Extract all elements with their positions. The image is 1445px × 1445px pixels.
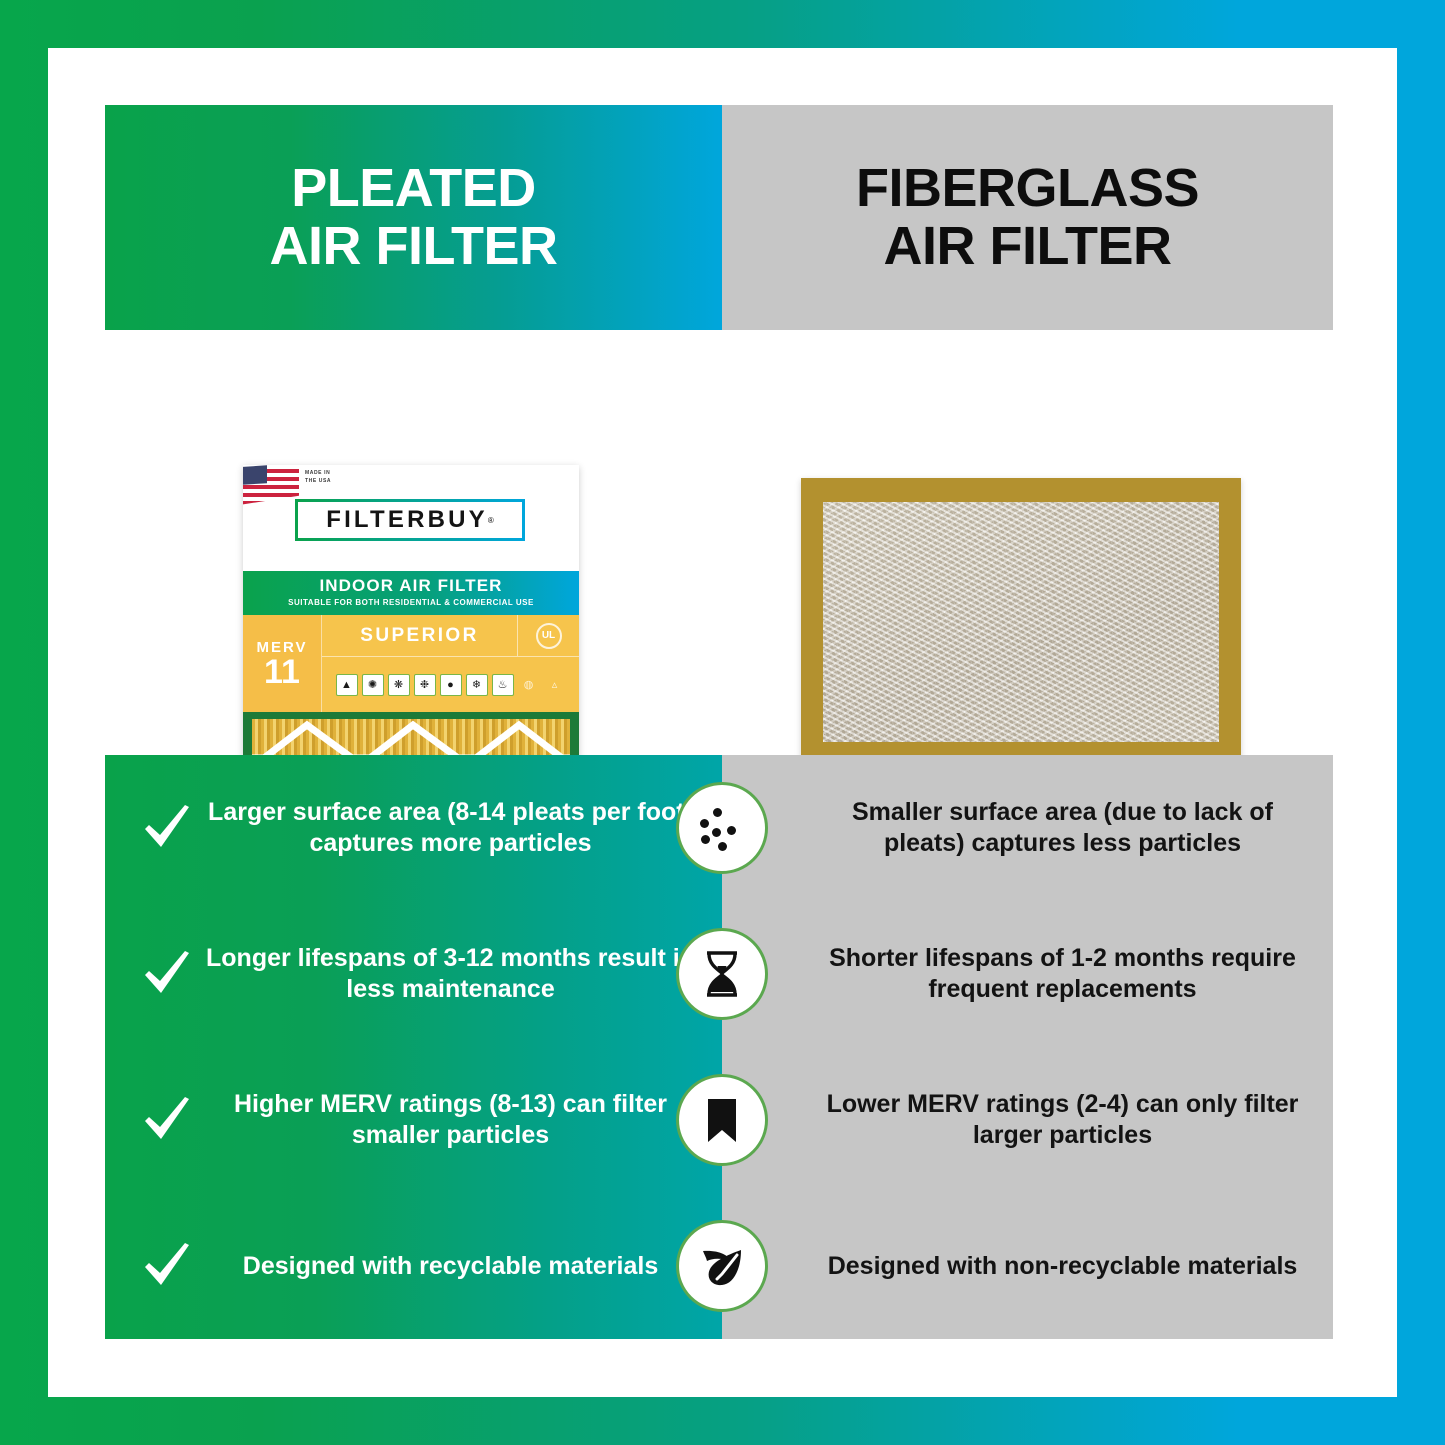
grade-row: SUPERIOR UL	[322, 615, 579, 657]
row-right-cell: Smaller surface area (due to lack of ple…	[722, 755, 1333, 901]
header-fiberglass: FIBERGLASS AIR FILTER	[722, 105, 1333, 330]
row-right-text: Smaller surface area (due to lack of ple…	[822, 797, 1303, 859]
ul-seal-text: UL	[536, 623, 562, 649]
comparison-row: Larger surface area (8-14 pleats per foo…	[105, 755, 1333, 901]
fiberglass-media	[823, 502, 1219, 742]
row-left-cell: Larger surface area (8-14 pleats per foo…	[105, 755, 722, 901]
made-in-line2: THE USA	[305, 478, 331, 486]
pollen-icon: ❋	[388, 674, 410, 696]
filterbuy-logo: FILTERBUY®	[295, 499, 525, 541]
insect-icon: ✺	[362, 674, 384, 696]
particles-icon	[676, 782, 768, 874]
fiberglass-filter-image	[801, 478, 1241, 766]
infographic-inner: PLEATED AIR FILTER FIBERGLASS AIR FILTER…	[105, 105, 1333, 1339]
infographic-card: PLEATED AIR FILTER FIBERGLASS AIR FILTER…	[48, 48, 1397, 1397]
header-pleated: PLEATED AIR FILTER	[105, 105, 722, 330]
row-right-cell: Designed with non-recyclable materials	[722, 1193, 1333, 1339]
package-top: MADE IN THE USA FILTERBUY®	[243, 465, 579, 571]
comparison-row: Longer lifespans of 3-12 months result i…	[105, 901, 1333, 1047]
comparison-row: Designed with recyclable materials Desig…	[105, 1193, 1333, 1339]
row-right-cell: Lower MERV ratings (2-4) can only filter…	[722, 1047, 1333, 1193]
check-icon	[133, 950, 201, 998]
row-left-text: Higher MERV ratings (8-13) can filter sm…	[201, 1089, 700, 1151]
row-left-text: Larger surface area (8-14 pleats per foo…	[201, 797, 700, 859]
merv-rating-block: MERV 11	[243, 615, 322, 712]
certification-seal: UL	[517, 615, 579, 656]
package-spec-area: MERV 11 SUPERIOR UL ▲ ✺ ❋	[243, 615, 579, 712]
row-left-text: Designed with recyclable materials	[201, 1251, 700, 1282]
grade-label: SUPERIOR	[322, 615, 517, 656]
particles-dots	[696, 802, 748, 854]
package-colored-band: INDOOR AIR FILTER SUITABLE FOR BOTH RESI…	[243, 571, 579, 615]
comparison-rows: Larger surface area (8-14 pleats per foo…	[105, 755, 1333, 1339]
check-icon	[133, 1242, 201, 1290]
product-image-band: MADE IN THE USA FILTERBUY® INDOOR AIR FI…	[105, 330, 1333, 755]
mold-icon: ●	[440, 674, 462, 696]
check-icon	[133, 1096, 201, 1144]
header-pleated-title: PLEATED AIR FILTER	[270, 160, 558, 274]
made-in-line1: MADE IN	[305, 470, 331, 478]
merv-value: 11	[264, 656, 300, 688]
check-icon	[133, 804, 201, 852]
row-right-text: Lower MERV ratings (2-4) can only filter…	[822, 1089, 1303, 1151]
hourglass-icon	[676, 928, 768, 1020]
registered-mark: ®	[488, 516, 494, 525]
header-fiberglass-line2: AIR FILTER	[856, 218, 1199, 275]
made-in-usa-text: MADE IN THE USA	[305, 470, 331, 485]
header-pleated-line2: AIR FILTER	[270, 218, 558, 275]
dust-icon: ▲	[336, 674, 358, 696]
package-spec-right: SUPERIOR UL ▲ ✺ ❋ ❉ ● ❄ ♨	[322, 615, 579, 712]
header-pleated-line1: PLEATED	[270, 160, 558, 217]
bacteria-icon: ❉	[414, 674, 436, 696]
row-left-cell: Designed with recyclable materials	[105, 1193, 722, 1339]
usa-flag-icon	[243, 465, 299, 505]
ghost-icon-1: ◍	[518, 674, 540, 696]
package-band-title: INDOOR AIR FILTER	[243, 576, 579, 596]
row-right-text: Designed with non-recyclable materials	[822, 1251, 1303, 1282]
filterbuy-logo-text: FILTERBUY	[326, 506, 488, 534]
header-strip: PLEATED AIR FILTER FIBERGLASS AIR FILTER	[105, 105, 1333, 330]
package-band-subtitle: SUITABLE FOR BOTH RESIDENTIAL & COMMERCI…	[243, 598, 579, 607]
row-right-cell: Shorter lifespans of 1-2 months require …	[722, 901, 1333, 1047]
comparison-row: Higher MERV ratings (8-13) can filter sm…	[105, 1047, 1333, 1193]
row-left-cell: Higher MERV ratings (8-13) can filter sm…	[105, 1047, 722, 1193]
header-fiberglass-line1: FIBERGLASS	[856, 160, 1199, 217]
row-right-text: Shorter lifespans of 1-2 months require …	[822, 943, 1303, 1005]
pet-dander-icon: ❄	[466, 674, 488, 696]
row-left-text: Longer lifespans of 3-12 months result i…	[201, 943, 700, 1005]
smoke-icon: ♨	[492, 674, 514, 696]
row-left-cell: Longer lifespans of 3-12 months result i…	[105, 901, 722, 1047]
ghost-icon-2: ▵	[544, 674, 566, 696]
leaf-icon	[676, 1220, 768, 1312]
bookmark-icon	[676, 1074, 768, 1166]
header-fiberglass-title: FIBERGLASS AIR FILTER	[856, 160, 1199, 274]
captured-particle-icons: ▲ ✺ ❋ ❉ ● ❄ ♨ ◍ ▵	[322, 657, 579, 712]
